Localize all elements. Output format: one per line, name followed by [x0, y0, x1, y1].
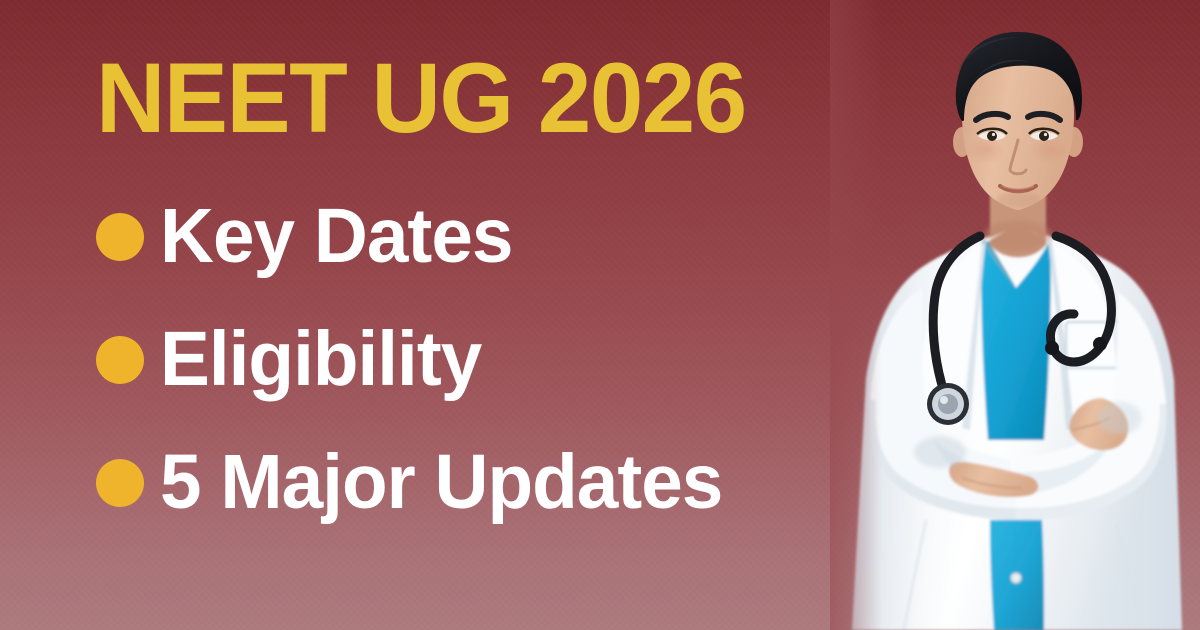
list-item-label: Eligibility	[160, 321, 481, 398]
doctor-illustration	[830, 0, 1200, 630]
doctor-body	[852, 186, 1182, 630]
stethoscope-joint-b	[1093, 337, 1107, 351]
doctor-head	[953, 32, 1083, 210]
bullet-dot-icon	[96, 336, 144, 384]
bullet-dot-icon	[96, 459, 144, 507]
neet-ug-2026-banner: NEET UG 2026 Key Dates Eligibility 5 Maj…	[0, 0, 1200, 630]
list-item: Key Dates	[96, 175, 856, 298]
page-title: NEET UG 2026	[96, 48, 833, 147]
bullet-dot-icon	[96, 213, 144, 261]
stethoscope-chestpiece	[927, 383, 969, 425]
doctor-photo	[830, 0, 1200, 630]
list-item-label: Key Dates	[160, 198, 512, 275]
coat-button	[1011, 573, 1021, 583]
stethoscope-joint-right	[1045, 341, 1059, 355]
list-item-label: 5 Major Updates	[160, 444, 722, 521]
list-item: 5 Major Updates	[96, 421, 856, 544]
feature-list: Key Dates Eligibility 5 Major Updates	[96, 175, 856, 544]
banner-content: NEET UG 2026 Key Dates Eligibility 5 Maj…	[96, 48, 856, 544]
list-item: Eligibility	[96, 298, 856, 421]
